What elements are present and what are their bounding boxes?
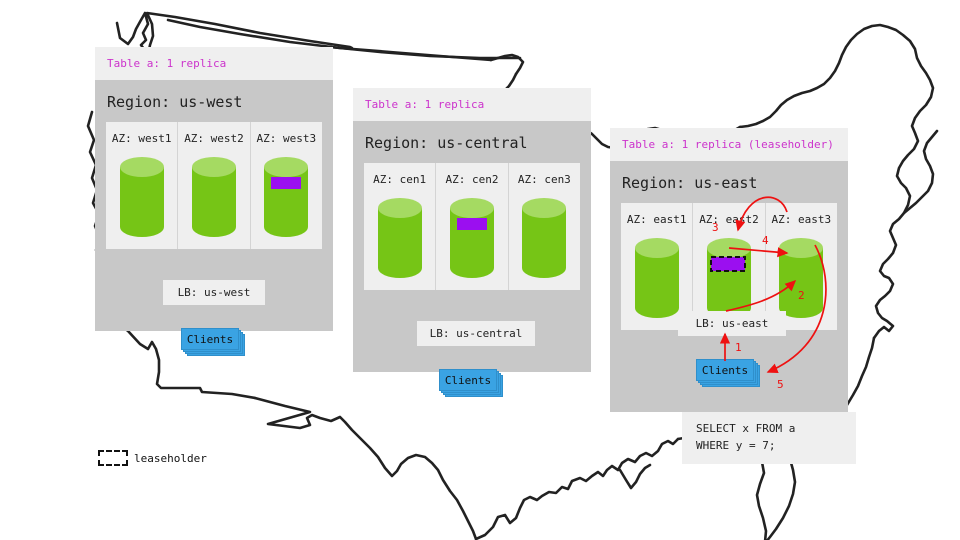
region-title-us-central: Region: us-central: [353, 121, 591, 163]
panel-header-us-central: Table a: 1 replica: [353, 88, 591, 121]
load-balancer-us-east[interactable]: LB: us-east: [678, 311, 786, 336]
clients-us-east[interactable]: Clients: [696, 359, 762, 389]
node-cylinder-cen3[interactable]: [520, 197, 568, 283]
node-cylinder-west1[interactable]: [118, 156, 166, 242]
az-label: AZ: east2: [699, 213, 759, 226]
replica-marker: [457, 218, 487, 230]
region-panel-us-central: Table a: 1 replica Region: us-central AZ…: [353, 88, 591, 372]
az-label: AZ: west2: [184, 132, 244, 145]
node-cylinder-west3[interactable]: [262, 156, 310, 242]
az-cen3[interactable]: AZ: cen3: [509, 163, 580, 290]
leaseholder-marker: [711, 257, 745, 271]
az-label: AZ: cen3: [518, 173, 571, 186]
clients-us-central[interactable]: Clients: [439, 369, 505, 399]
az-west3[interactable]: AZ: west3: [251, 122, 322, 249]
az-cen1[interactable]: AZ: cen1: [364, 163, 436, 290]
load-balancer-us-central[interactable]: LB: us-central: [417, 321, 535, 346]
az-row-us-west: AZ: west1 AZ: west2 AZ:: [106, 122, 322, 249]
node-cylinder-cen1[interactable]: [376, 197, 424, 283]
az-label: AZ: west3: [257, 132, 317, 145]
sql-query-box: SELECT x FROM a WHERE y = 7;: [682, 412, 856, 464]
panel-header-us-west: Table a: 1 replica: [95, 47, 333, 80]
az-cen2[interactable]: AZ: cen2: [436, 163, 508, 290]
az-label: AZ: east1: [627, 213, 687, 226]
clients-us-west[interactable]: Clients: [181, 328, 247, 358]
load-balancer-us-west[interactable]: LB: us-west: [163, 280, 265, 305]
panel-header-us-east: Table a: 1 replica (leaseholder): [610, 128, 848, 161]
az-label: AZ: cen2: [446, 173, 499, 186]
region-panel-us-west: Table a: 1 replica Region: us-west AZ: w…: [95, 47, 333, 331]
diagram-canvas: Table a: 1 replica Region: us-west AZ: w…: [0, 0, 960, 540]
dashed-rect-icon: [98, 450, 128, 466]
az-row-us-central: AZ: cen1 AZ: cen2: [364, 163, 580, 290]
node-cylinder-east1[interactable]: [633, 237, 681, 323]
legend: leaseholder: [98, 450, 207, 466]
node-cylinder-cen2[interactable]: [448, 197, 496, 283]
az-label: AZ: west1: [112, 132, 172, 145]
region-title-us-west: Region: us-west: [95, 80, 333, 122]
region-title-us-east: Region: us-east: [610, 161, 848, 203]
az-label: AZ: east3: [772, 213, 832, 226]
az-west2[interactable]: AZ: west2: [178, 122, 250, 249]
az-west1[interactable]: AZ: west1: [106, 122, 178, 249]
region-panel-us-east: Table a: 1 replica (leaseholder) Region:…: [610, 128, 848, 412]
az-label: AZ: cen1: [373, 173, 426, 186]
node-cylinder-west2[interactable]: [190, 156, 238, 242]
clients-label: Clients: [181, 328, 239, 350]
replica-marker: [271, 177, 301, 189]
legend-label: leaseholder: [134, 452, 207, 465]
clients-label: Clients: [696, 359, 754, 381]
clients-label: Clients: [439, 369, 497, 391]
